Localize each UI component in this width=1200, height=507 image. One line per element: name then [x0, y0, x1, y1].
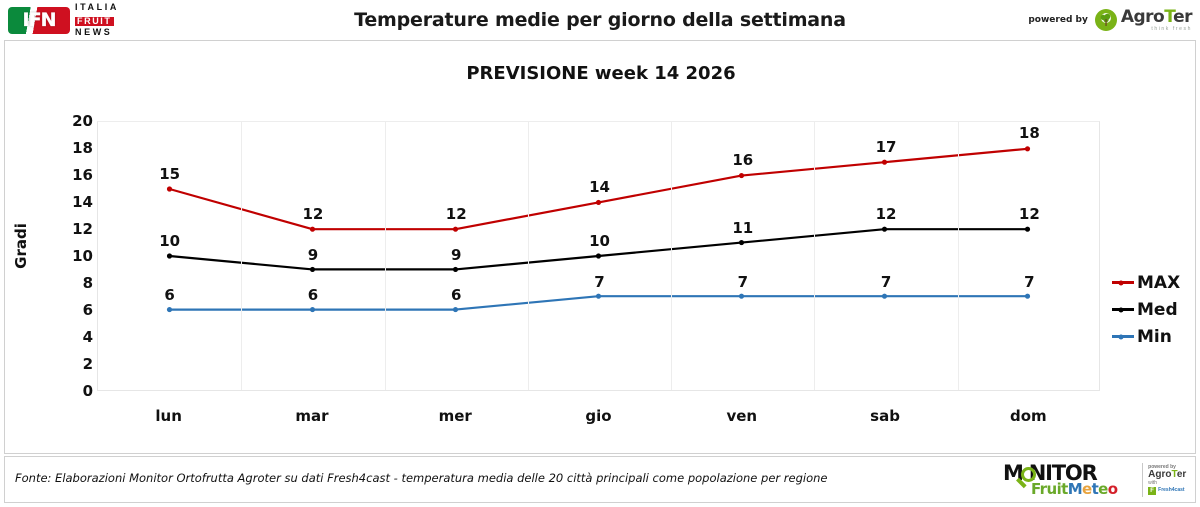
source-note: Fonte: Elaborazioni Monitor Ortofrutta A…: [15, 471, 827, 485]
data-point-min-dom: [1025, 294, 1030, 299]
data-label-max-sab: 17: [876, 138, 897, 156]
data-label-max-lun: 15: [159, 165, 180, 183]
data-point-min-mar: [310, 307, 315, 312]
fruitmeteo-e1: e: [1082, 480, 1092, 498]
data-label-min-dom: 7: [1024, 273, 1034, 291]
y-axis-tick-16: 16: [72, 166, 93, 184]
data-label-med-dom: 12: [1019, 205, 1040, 223]
data-point-max-gio: [596, 200, 601, 205]
legend-item-min[interactable]: Min: [1112, 323, 1192, 350]
y-axis-tick-18: 18: [72, 139, 93, 157]
gridline-vertical: [241, 122, 242, 390]
data-label-max-dom: 18: [1019, 124, 1040, 142]
fruitmeteo-o: o: [1108, 480, 1118, 498]
data-label-med-gio: 10: [589, 232, 610, 250]
data-point-min-mer: [453, 307, 458, 312]
fresh4cast-mark: F: [1148, 487, 1156, 495]
y-axis-label: Gradi: [12, 223, 30, 269]
data-label-med-lun: 10: [159, 232, 180, 250]
page-title: Temperature medie per giorno della setti…: [0, 9, 1200, 31]
data-point-min-sab: [882, 294, 887, 299]
monitor-credits: powered by AgroTer with F Fresh4cast: [1148, 465, 1189, 495]
x-axis-tick-dom: dom: [1010, 407, 1047, 425]
fresh4cast-name: Fresh4cast: [1158, 488, 1184, 493]
y-axis-tick-10: 10: [72, 247, 93, 265]
plot-area: 151212141617181099101112126667777: [97, 121, 1100, 391]
data-label-min-ven: 7: [738, 273, 748, 291]
gridline-vertical: [528, 122, 529, 390]
logo-divider: [1142, 463, 1143, 497]
gridline-vertical: [814, 122, 815, 390]
fruitmeteo-fruit: Fruit: [1031, 480, 1068, 498]
data-point-med-dom: [1025, 227, 1030, 232]
data-point-max-ven: [739, 173, 744, 178]
legend-item-max[interactable]: MAX: [1112, 269, 1192, 296]
gridline-vertical: [958, 122, 959, 390]
x-axis-ticks: lunmarmergiovensabdom: [97, 393, 1100, 427]
series-lines: [98, 122, 1099, 390]
page-footer: Fonte: Elaborazioni Monitor Ortofrutta A…: [4, 456, 1196, 503]
legend-item-med[interactable]: Med: [1112, 296, 1192, 323]
fruitmeteo-m: M: [1068, 480, 1082, 498]
monitor-agroter-er: er: [1177, 469, 1186, 480]
data-label-med-ven: 11: [732, 219, 753, 237]
chart-panel: PREVISIONE week 14 2026 Gradi 2018161412…: [4, 40, 1196, 454]
y-axis-tick-6: 6: [83, 301, 93, 319]
y-axis-tick-2: 2: [83, 355, 93, 373]
chart-legend: MAXMedMin: [1112, 269, 1192, 350]
data-point-max-dom: [1025, 146, 1030, 151]
data-label-min-gio: 7: [594, 273, 604, 291]
legend-label-med: Med: [1137, 300, 1178, 320]
chart-subtitle: PREVISIONE week 14 2026: [5, 63, 1197, 84]
data-label-max-mer: 12: [446, 205, 467, 223]
data-point-max-mar: [310, 227, 315, 232]
legend-label-max: MAX: [1137, 273, 1180, 293]
data-label-min-sab: 7: [881, 273, 891, 291]
data-point-med-ven: [739, 240, 744, 245]
agroter-name-part3: er: [1173, 7, 1192, 27]
agroter-name: AgroTer: [1121, 9, 1192, 26]
legend-swatch-min: [1112, 335, 1134, 338]
data-point-med-mer: [453, 267, 458, 272]
data-label-min-mar: 6: [308, 286, 318, 304]
powered-by-block: powered by AgroTer think fresh: [1028, 6, 1192, 34]
gridline-vertical: [385, 122, 386, 390]
data-label-med-sab: 12: [876, 205, 897, 223]
x-axis-tick-gio: gio: [585, 407, 611, 425]
y-axis-ticks: 20181614121086420: [45, 121, 93, 391]
x-axis-tick-mer: mer: [439, 407, 472, 425]
ifn-logo-text: IFN: [23, 9, 56, 31]
agroter-wordmark: AgroTer think fresh: [1121, 9, 1192, 32]
agroter-tagline: think fresh: [1121, 27, 1192, 32]
data-point-min-lun: [167, 307, 172, 312]
x-axis-tick-ven: ven: [726, 407, 757, 425]
legend-label-min: Min: [1137, 327, 1172, 347]
y-axis-tick-14: 14: [72, 193, 93, 211]
fruitmeteo-e2: e: [1098, 480, 1108, 498]
agroter-name-part1: Agro: [1121, 7, 1164, 27]
data-point-med-lun: [167, 253, 172, 258]
y-axis-tick-4: 4: [83, 328, 93, 346]
y-axis-tick-12: 12: [72, 220, 93, 238]
data-point-med-gio: [596, 253, 601, 258]
tree-icon: [1095, 9, 1117, 31]
legend-swatch-max: [1112, 281, 1134, 284]
data-point-min-gio: [596, 294, 601, 299]
monitor-fruitmeteo-logo: M NITOR FruitMeteo powered by AgroTer wi…: [1001, 460, 1189, 500]
data-label-max-mar: 12: [302, 205, 323, 223]
data-label-max-gio: 14: [589, 178, 610, 196]
fruitmeteo-word: FruitMeteo: [1031, 480, 1117, 498]
monitor-with: with: [1148, 481, 1189, 486]
y-axis-tick-0: 0: [83, 382, 93, 400]
gridline-vertical: [671, 122, 672, 390]
data-point-max-mer: [453, 227, 458, 232]
y-axis-tick-8: 8: [83, 274, 93, 292]
monitor-wordmark: M NITOR FruitMeteo: [1001, 460, 1137, 500]
data-point-min-ven: [739, 294, 744, 299]
fresh4cast-logo: F Fresh4cast: [1148, 487, 1189, 495]
monitor-agroter-a: Agro: [1148, 469, 1171, 480]
data-point-max-sab: [882, 160, 887, 165]
data-label-max-ven: 16: [732, 151, 753, 169]
data-label-med-mer: 9: [451, 246, 461, 264]
legend-swatch-med: [1112, 308, 1134, 311]
data-label-min-lun: 6: [164, 286, 174, 304]
agroter-name-part2: T: [1164, 7, 1173, 27]
data-point-max-lun: [167, 186, 172, 191]
data-label-min-mer: 6: [451, 286, 461, 304]
agroter-logo: AgroTer think fresh: [1095, 9, 1192, 32]
x-axis-tick-lun: lun: [155, 407, 182, 425]
powered-by-label: powered by: [1028, 15, 1087, 25]
y-axis-tick-20: 20: [72, 112, 93, 130]
chart-screenshot: IFN ITALIA FRUIT NEWS Temperature medie …: [0, 0, 1200, 507]
x-axis-tick-sab: sab: [870, 407, 900, 425]
data-point-med-mar: [310, 267, 315, 272]
data-point-med-sab: [882, 227, 887, 232]
page-header: IFN ITALIA FRUIT NEWS Temperature medie …: [0, 0, 1200, 40]
data-label-med-mar: 9: [308, 246, 318, 264]
x-axis-tick-mar: mar: [295, 407, 328, 425]
